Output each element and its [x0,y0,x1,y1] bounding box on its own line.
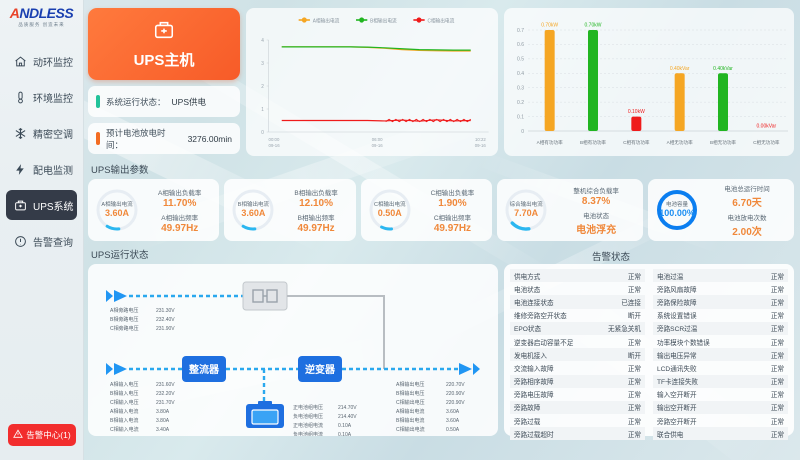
param-card-phase-b: B相输出电流3.60A B相输出负载率 12.10% B相输出频率 49.97H… [224,179,355,241]
alarm-row: 功率模块个数错误正常 [653,335,788,348]
alarm-row: 旁路过载正常 [510,414,645,427]
output-flow-line [342,363,480,375]
svg-text:A相输出电流: A相输出电流 [313,17,340,24]
sidebar-item-alarm-query[interactable]: 告警查询 [6,226,77,256]
sidebar-item-power-distribution[interactable]: 配电监测 [6,154,77,184]
alarm-value: 正常 [771,429,784,439]
svg-text:0.3: 0.3 [517,86,524,92]
brand-slogan: 品质服务 创造未来 [0,22,83,28]
svg-text:0.70kW: 0.70kW [585,23,602,29]
sidebar-item-label: UPS系统 [33,198,74,213]
svg-text:B相输出电流: B相输出电流 [396,417,424,424]
alarm-label: 系统设置错误 [657,310,697,320]
svg-text:A相输出电流: A相输出电流 [396,408,424,415]
param-value: 2.00次 [732,223,761,238]
alarm-value: 正常 [771,271,784,281]
alarm-label: 逆变器启动容量不足 [514,337,573,347]
ups-host-title: UPS主机 [134,49,195,70]
svg-text:0.10kW: 0.10kW [628,109,645,115]
sidebar-item-label: 配电监测 [33,162,73,177]
ups-flow-diagram[interactable]: 整流器 逆变器 A相旁路电压231.30VB相旁路电压232.40VC相旁路电压… [88,264,498,436]
run-status-title: UPS运行状态 [91,247,794,261]
alarm-value: 正常 [771,416,784,426]
alarm-value: 正常 [628,337,641,347]
hero-column: UPS主机 系统运行状态： UPS供电 预计电池放电时间： 3276.00min [88,8,240,156]
status-marker [96,95,100,108]
svg-text:B相有功功率: B相有功功率 [580,139,606,146]
alarm-row: EPO状态无紧急关机 [510,322,645,335]
param-card-battery: 电池容量100.00% 电池总运行时间 6.70天 电池放电次数 2.00次 [648,179,794,241]
exclamation-circle-icon [14,235,27,248]
sidebar: ANDLESS 品质服务 创造未来 动环监控 环境监控 精密空调 配电 [0,0,84,460]
alarm-row: 旁路过载超时正常 [510,427,645,440]
alarm-row: 供电方式正常 [510,269,645,282]
alarm-row: 维修旁路空开状态断开 [510,309,645,322]
alarm-row: LCD通讯失败正常 [653,361,788,374]
param-label: B相输出负载率 [294,187,337,197]
svg-text:3.80A: 3.80A [156,409,170,415]
svg-text:0.10A: 0.10A [338,423,352,429]
svg-text:3: 3 [261,61,264,67]
alarm-value: 正常 [628,416,641,426]
ups-host-card[interactable]: UPS主机 [88,8,240,80]
svg-text:0.50A: 0.50A [446,427,460,433]
svg-text:正电池组电流: 正电池组电流 [293,422,323,429]
svg-text:整流器: 整流器 [188,363,220,376]
bypass-flow-line [106,290,243,302]
system-status-value: UPS供电 [172,96,206,108]
gauge-value: 3.60A [105,208,129,218]
alarm-label: EPO状态 [514,323,541,333]
flow-diagram-svg: 整流器 逆变器 A相旁路电压231.30VB相旁路电压232.40VC相旁路电压… [88,264,498,436]
svg-text:214.40V: 214.40V [338,414,357,420]
alarm-value: 正常 [628,271,641,281]
svg-text:0.6: 0.6 [517,42,524,48]
alarm-row: 电池状态正常 [510,282,645,295]
gauge-a-current: A相输出电流3.60A [93,186,141,234]
svg-text:C相输出电流: C相输出电流 [427,17,454,24]
svg-text:10:22: 10:22 [475,137,486,142]
svg-text:09-16: 09-16 [372,143,384,148]
svg-text:逆变器: 逆变器 [305,363,336,376]
gauge-value: 3.60A [241,208,265,218]
line-chart-legend: A相输出电流 B相输出电流 C相输出电流 [299,17,455,24]
alarm-value: 正常 [771,350,784,360]
param-label: 电池状态 [583,210,609,220]
svg-text:C相输出电压: C相输出电压 [396,399,425,406]
gauge-battery-capacity: 电池容量100.00% [653,186,701,234]
gauge-label: A相输出电流 [101,202,132,209]
alarm-label: 旁路过载 [514,416,540,426]
alarm-value: 断开 [628,310,641,320]
svg-text:220.70V: 220.70V [446,382,465,388]
svg-text:3.40A: 3.40A [156,427,170,433]
svg-text:232.20V: 232.20V [156,391,175,397]
battery-icon [153,19,175,46]
param-value: 49.97Hz [297,223,334,234]
gauge-label: 综合输出电流 [510,202,543,209]
alarm-label: 输出电压异常 [657,350,697,360]
sidebar-item-label: 精密空调 [33,126,73,141]
alarm-value: 正常 [771,284,784,294]
svg-text:B相无功功率: B相无功功率 [710,139,736,146]
alarm-value: 正常 [628,363,641,373]
svg-text:A相有功功率: A相有功功率 [537,139,563,146]
svg-text:231.60V: 231.60V [156,382,175,388]
svg-text:C相旁路电压: C相旁路电压 [110,325,139,332]
param-value: 电池浮充 [576,221,616,236]
svg-text:C相有功功率: C相有功功率 [623,139,650,146]
gauge-value: 100.00% [659,208,695,218]
alarm-label: 旁路故障 [514,402,540,412]
sidebar-item-label: 动环监控 [33,54,73,69]
alarm-value: 断开 [628,350,641,360]
alarm-row: 旁路故障正常 [510,401,645,414]
svg-text:负电池组电压: 负电池组电压 [293,413,323,420]
alarm-value: 正常 [771,402,784,412]
warning-triangle-icon [13,429,23,441]
snowflake-icon [14,127,27,140]
svg-text:0.1: 0.1 [517,114,524,120]
alarm-label: 联合供电 [657,429,683,439]
alarm-row: 旁路保险故障正常 [653,295,788,308]
input-flow-line [106,363,182,375]
main-content: UPS主机 系统运行状态： UPS供电 预计电池放电时间： 3276.00min… [84,0,800,460]
svg-text:0.40kVar: 0.40kVar [670,66,690,72]
line-chart-svg: A相输出电流 B相输出电流 C相输出电流 01234 00:0009-1606:… [246,8,498,156]
svg-text:2: 2 [261,84,264,90]
top-row: UPS主机 系统运行状态： UPS供电 预计电池放电时间： 3276.00min… [88,8,794,156]
gauge-label: C相输出电流 [374,202,405,209]
battery-icon [14,199,27,212]
svg-text:3.60A: 3.60A [446,409,460,415]
alarm-row: 输入空开断开正常 [653,388,788,401]
home-icon [14,55,27,68]
output-params-title: UPS输出参数 [91,162,794,176]
sidebar-item-environment[interactable]: 环境监控 [6,82,77,112]
alarm-row: 旁路SCR过温正常 [653,322,788,335]
svg-text:0.7: 0.7 [517,28,524,34]
param-card-phase-a: A相输出电流3.60A A相输出负载率 11.70% A相输出频率 49.97H… [88,179,219,241]
alarm-label: 旁路SCR过温 [657,323,697,333]
alarm-status-grid: 供电方式正常电池过温正常电池状态正常旁路风扇故障正常电池连接状态已连接旁路保险故… [510,269,788,440]
param-value: 11.70% [163,198,196,209]
svg-text:214.70V: 214.70V [338,405,357,411]
alarm-value: 无紧急关机 [608,323,641,333]
battery-runtime-card: 预计电池放电时间： 3276.00min [88,123,240,154]
param-label: 电池总运行时间 [724,183,770,193]
power-bar-chart[interactable]: 00.10.20.30.40.50.60.7 0.70kW0.70kW0.10k… [504,8,794,156]
alarm-value: 正常 [771,337,784,347]
svg-text:3.80A: 3.80A [156,418,170,424]
svg-text:B相旁路电压: B相旁路电压 [110,316,138,323]
param-value: 1.90% [438,198,466,209]
alarm-row: 系统设置错误正常 [653,309,788,322]
alarm-label: 旁路电压故障 [514,389,554,399]
alarm-value: 正常 [771,323,784,333]
svg-text:0.4: 0.4 [517,71,524,77]
svg-text:232.40V: 232.40V [156,317,175,323]
brand-logo: ANDLESS 品质服务 创造未来 [0,0,83,32]
alarm-status-title: 告警状态 [592,249,630,263]
svg-text:4: 4 [261,38,264,44]
alarm-label: 电池连接状态 [514,297,554,307]
svg-text:B相输出电流: B相输出电流 [370,17,397,24]
param-card-phase-c: C相输出电流0.50A C相输出负载率 1.90% C相输出频率 49.97Hz [361,179,492,241]
sidebar-item-precision-ac[interactable]: 精密空调 [6,118,77,148]
sidebar-item-label: 环境监控 [33,90,73,105]
svg-text:B相输入电流: B相输入电流 [110,417,138,424]
gauge-c-current: C相输出电流0.50A [366,186,414,234]
alarm-label: 发电机接入 [514,350,547,360]
svg-text:A相输入电压: A相输入电压 [110,381,138,388]
battery-runtime-label: 预计电池放电时间： [106,127,182,151]
svg-text:C相输入电压: C相输入电压 [110,399,139,406]
svg-text:A相旁路电压: A相旁路电压 [110,307,138,314]
gauge-label: 电池容量 [666,202,688,209]
svg-text:06:00: 06:00 [372,137,383,142]
thermometer-icon [14,91,27,104]
svg-text:A相输入电流: A相输入电流 [110,408,138,415]
svg-text:1: 1 [261,107,264,113]
sidebar-item-label: 告警查询 [33,234,73,249]
alarm-center-button[interactable]: 告警中心(1) [8,424,76,446]
svg-text:09-16: 09-16 [475,143,487,148]
sidebar-item-ups-system[interactable]: UPS系统 [6,190,77,220]
alarm-row: 联合供电正常 [653,427,788,440]
param-label: 整机综合负载率 [573,185,619,195]
svg-text:正电池组电压: 正电池组电压 [293,404,323,411]
param-label: C相输出负载率 [431,187,475,197]
alarm-label: TF卡连接失败 [657,376,698,386]
alarm-value: 正常 [628,284,641,294]
alarm-status-panel: 供电方式正常电池过温正常电池状态正常旁路风扇故障正常电池连接状态已连接旁路保险故… [504,264,794,436]
alarm-value: 正常 [628,376,641,386]
param-card-total: 综合输出电流7.70A 整机综合负载率 8.37% 电池状态 电池浮充 [497,179,643,241]
svg-text:0: 0 [521,129,524,135]
svg-text:00:00: 00:00 [269,137,280,142]
bottom-row: 整流器 逆变器 A相旁路电压231.30VB相旁路电压232.40VC相旁路电压… [88,264,794,436]
alarm-center-label: 告警中心(1) [26,429,70,441]
param-value: 12.10% [299,198,333,209]
alarm-row: 旁路风扇故障正常 [653,282,788,295]
svg-text:0.40kVar: 0.40kVar [713,66,733,72]
param-label: A相输出负载率 [158,187,201,197]
alarm-value: 正常 [628,389,641,399]
param-value: 6.70天 [732,194,761,209]
svg-text:0.70kW: 0.70kW [541,23,558,29]
gauge-label: B相输出电流 [238,202,269,209]
output-current-line-chart[interactable]: A相输出电流 B相输出电流 C相输出电流 01234 00:0009-1606:… [246,8,498,156]
sidebar-nav: 动环监控 环境监控 精密空调 配电监测 UPS系统 [0,46,83,256]
param-value: 49.97Hz [161,223,198,234]
bar-chart-svg: 00.10.20.30.40.50.60.7 0.70kW0.70kW0.10k… [504,8,794,156]
alarm-label: 电池过温 [657,271,683,281]
alarm-value: 正常 [628,429,641,439]
alarm-value: 正常 [771,389,784,399]
svg-text:0.10A: 0.10A [338,432,352,436]
param-value: 49.97Hz [434,223,471,234]
alarm-label: 电池状态 [514,284,540,294]
svg-text:C相无功功率: C相无功功率 [753,139,780,146]
alarm-row: 逆变器启动容量不足正常 [510,335,645,348]
alarm-value: 正常 [771,297,784,307]
brand-name: NDLESS [19,5,73,21]
param-label: 电池放电次数 [728,212,767,222]
svg-text:0.00kVar: 0.00kVar [757,124,777,130]
alarm-label: 交流输入故障 [514,363,554,373]
svg-text:0.2: 0.2 [517,100,524,106]
alarm-row: 旁路空开断开正常 [653,414,788,427]
alarm-row: 旁路相序故障正常 [510,375,645,388]
alarm-value: 正常 [628,402,641,412]
alarm-label: 旁路保险故障 [657,297,697,307]
alarm-row: 旁路电压故障正常 [510,388,645,401]
alarm-label: 功率模块个数错误 [657,337,710,347]
alarm-value: 正常 [771,376,784,386]
bolt-icon [14,163,27,176]
alarm-row: 发电机接入断开 [510,348,645,361]
svg-text:220.90V: 220.90V [446,391,465,397]
svg-text:231.30V: 231.30V [156,308,175,314]
svg-text:C相输入电流: C相输入电流 [110,426,139,433]
alarm-value: 正常 [771,310,784,320]
svg-text:C相输出电流: C相输出电流 [396,426,425,433]
sidebar-item-dynamic-env[interactable]: 动环监控 [6,46,77,76]
alarm-label: 输出空开断开 [657,402,697,412]
alarm-label: 输入空开断开 [657,389,697,399]
brand-initial: A [10,5,20,21]
alarm-row: 电池连接状态已连接 [510,295,645,308]
svg-text:B相输出电压: B相输出电压 [396,390,424,397]
param-value: 8.37% [582,196,610,207]
alarm-label: 维修旁路空开状态 [514,310,567,320]
svg-text:负电池组电流: 负电池组电流 [293,431,323,436]
alarm-row: 交流输入故障正常 [510,361,645,374]
svg-text:0: 0 [261,130,264,136]
svg-text:B相输入电压: B相输入电压 [110,390,138,397]
alarm-label: 旁路相序故障 [514,376,554,386]
alarm-row: 电池过温正常 [653,269,788,282]
param-label: C相输出频率 [434,212,471,222]
svg-text:A相输出电压: A相输出电压 [396,381,424,388]
svg-text:0.5: 0.5 [517,57,524,63]
gauge-value: 7.70A [514,208,538,218]
runtime-marker [96,132,100,145]
svg-text:231.90V: 231.90V [156,326,175,332]
alarm-label: 旁路风扇故障 [657,284,697,294]
alarm-label: 旁路过载超时 [514,429,554,439]
output-params-row: A相输出电流3.60A A相输出负载率 11.70% A相输出频率 49.97H… [88,179,794,241]
system-status-label: 系统运行状态： [106,96,166,108]
svg-text:3.60A: 3.60A [446,418,460,424]
svg-text:231.70V: 231.70V [156,400,175,406]
alarm-row: 输出空开断开正常 [653,401,788,414]
svg-text:A相无功功率: A相无功功率 [667,139,693,146]
alarm-row: TF卡连接失败正常 [653,375,788,388]
svg-text:220.90V: 220.90V [446,400,465,406]
alarm-label: LCD通讯失败 [657,363,697,373]
param-label: B相输出频率 [298,212,335,222]
gauge-total-current: 综合输出电流7.70A [502,186,550,234]
alarm-row: 输出电压异常正常 [653,348,788,361]
system-status-card: 系统运行状态： UPS供电 [88,86,240,117]
gauge-b-current: B相输出电流3.60A [229,186,277,234]
alarm-label: 供电方式 [514,271,540,281]
svg-text:09-16: 09-16 [269,143,281,148]
alarm-value: 正常 [771,363,784,373]
alarm-value: 已连接 [621,297,641,307]
param-label: A相输出频率 [161,212,198,222]
gauge-value: 0.50A [378,208,402,218]
alarm-label: 旁路空开断开 [657,416,697,426]
battery-runtime-value: 3276.00min [188,134,232,144]
